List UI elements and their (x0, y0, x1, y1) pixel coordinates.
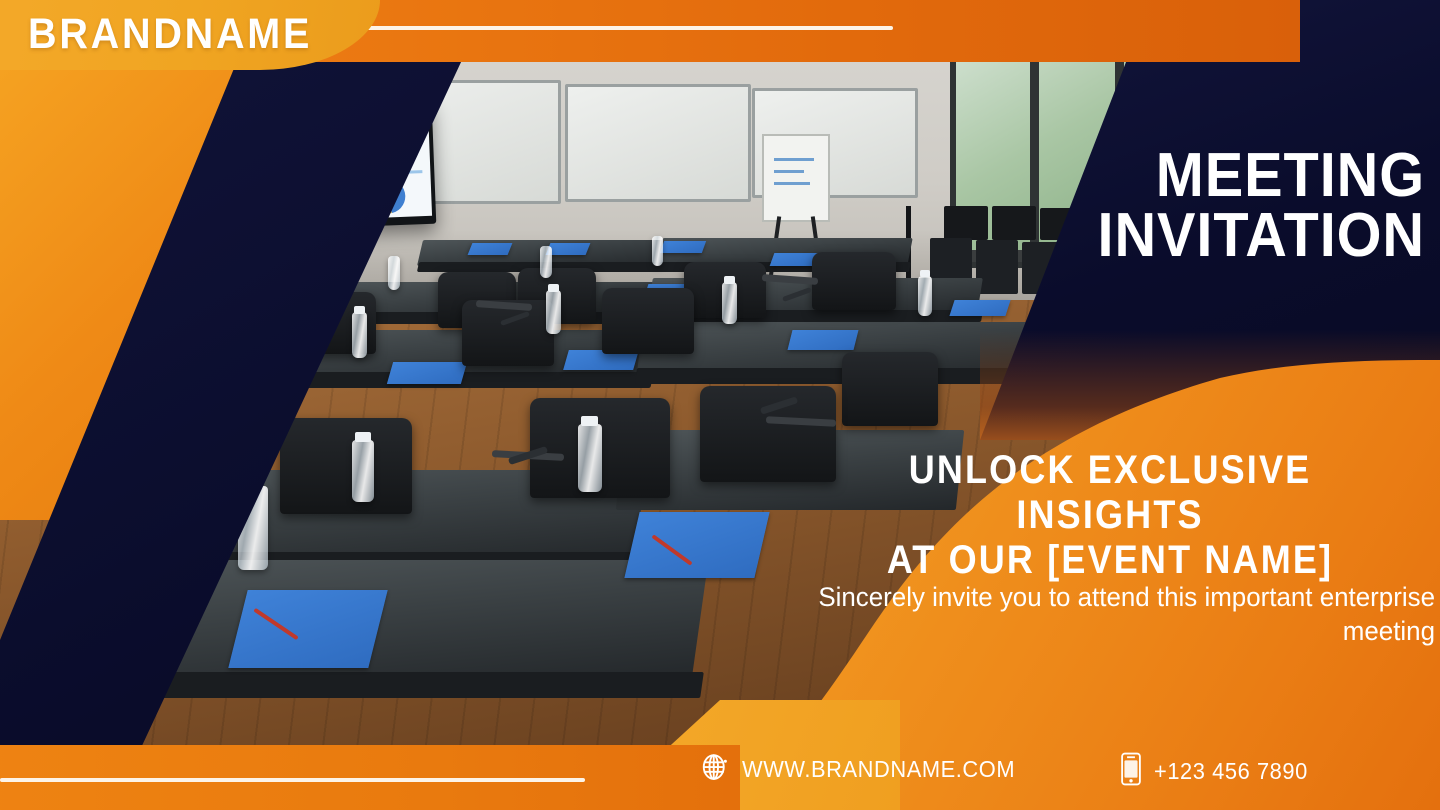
water-bottle (352, 312, 367, 358)
chair (462, 300, 554, 366)
phone-text: +123 456 7890 (1154, 758, 1308, 785)
body-line-2: enterprise meeting (1320, 582, 1435, 646)
body-line-1: Sincerely invite you to attend this impo… (818, 582, 1312, 612)
globe-icon (700, 752, 730, 787)
website-text: WWW.BRANDNAME.COM (742, 756, 1015, 783)
whiteboard (565, 84, 751, 202)
flipchart (762, 134, 830, 222)
water-bottle (578, 424, 602, 492)
body-text: Sincerely invite you to attend this impo… (806, 580, 1435, 649)
page-title: MEETING INVITATION (1039, 146, 1425, 265)
monitor (944, 206, 988, 240)
blue-folder (228, 590, 387, 668)
chair (280, 418, 412, 514)
water-bottle (540, 246, 552, 278)
title-line-1: MEETING (1156, 141, 1425, 210)
brand-name: BRANDNAME (28, 10, 312, 59)
meeting-invitation-poster: BRANDNAME MEETING INVITATION UNLOCK EXCL… (0, 0, 1440, 810)
headline-line-1: UNLOCK EXCLUSIVE INSIGHTS (909, 448, 1312, 537)
blue-folder (546, 243, 591, 255)
header-orange-bar (300, 0, 1300, 62)
chair (700, 386, 836, 482)
water-bottle (352, 440, 374, 502)
headline: UNLOCK EXCLUSIVE INSIGHTS AT OUR [EVENT … (822, 448, 1398, 582)
stacked-chair (976, 240, 1018, 294)
blue-folder (660, 241, 706, 253)
water-bottle (546, 290, 561, 334)
title-line-2: INVITATION (1039, 206, 1425, 266)
chair (842, 352, 938, 426)
water-bottle (388, 256, 400, 290)
footer-rule (0, 778, 585, 782)
blue-folder (468, 243, 513, 255)
monitor (992, 206, 1036, 240)
headline-line-2: AT OUR [EVENT NAME] (822, 538, 1398, 583)
blue-folder (387, 362, 467, 384)
blue-folder (949, 300, 1010, 316)
website-contact[interactable]: WWW.BRANDNAME.COM (700, 752, 1029, 787)
water-bottle (722, 282, 737, 324)
water-bottle (652, 236, 663, 266)
blue-folder (624, 512, 769, 578)
chair (812, 252, 896, 310)
smartphone-icon (1120, 752, 1142, 791)
blue-folder (788, 330, 859, 350)
water-bottle (918, 276, 932, 316)
phone-contact[interactable]: +123 456 7890 (1120, 752, 1316, 791)
header-rule (348, 26, 893, 30)
chair (602, 288, 694, 354)
